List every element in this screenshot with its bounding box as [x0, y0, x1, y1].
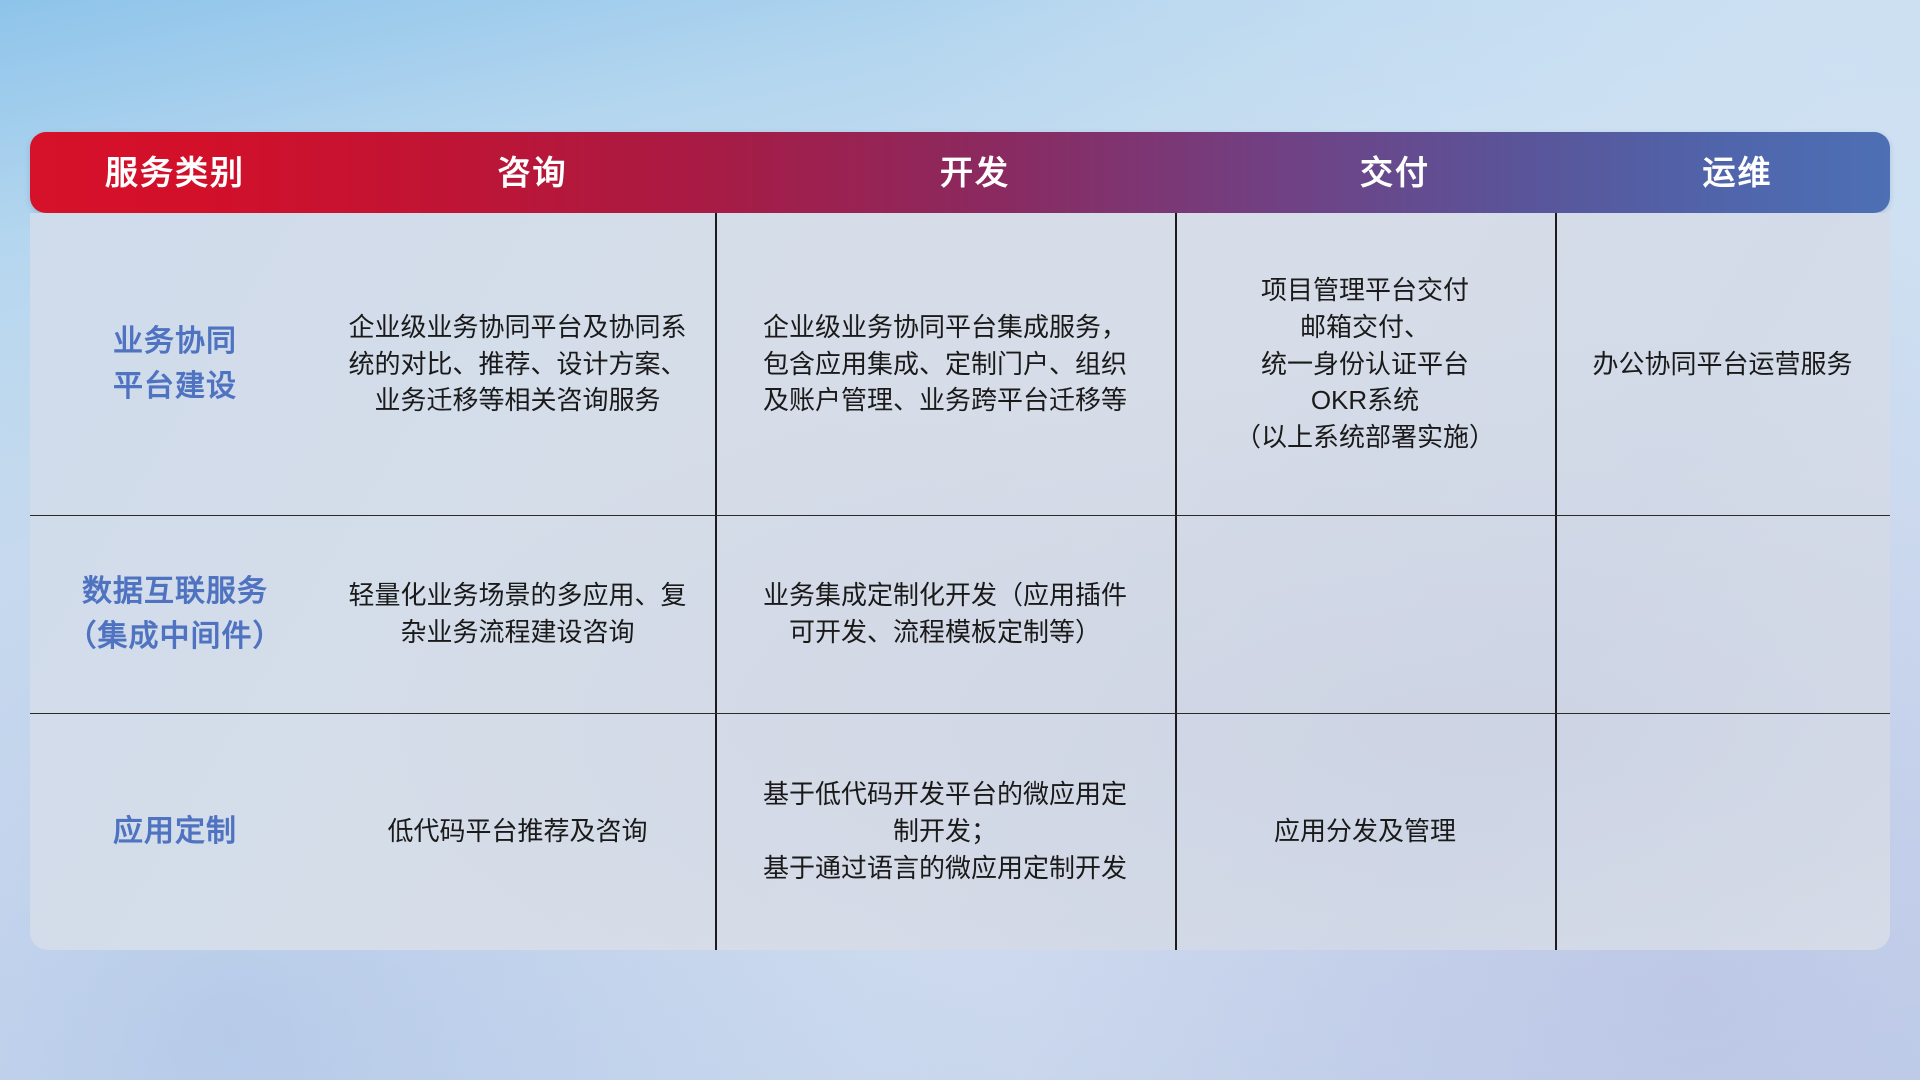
table-row: 数据互联服务 （集成中间件） 轻量化业务场景的多应用、复 杂业务流程建设咨询 业…	[30, 515, 1890, 713]
column-header-operations: 运维	[1585, 156, 1890, 189]
column-header-category: 服务类别	[30, 156, 320, 189]
cell-consulting: 企业级业务协同平台及协同系 统的对比、推荐、设计方案、 业务迁移等相关咨询服务	[320, 309, 715, 420]
cell-operations: 办公协同平台运营服务	[1555, 346, 1890, 383]
table-row: 应用定制 低代码平台推荐及咨询 基于低代码开发平台的微应用定 制开发； 基于通过…	[30, 713, 1890, 950]
cell-development: 企业级业务协同平台集成服务， 包含应用集成、定制门户、组织 及账户管理、业务跨平…	[715, 309, 1175, 420]
column-header-delivery: 交付	[1205, 156, 1585, 189]
row-divider-1	[30, 515, 1890, 516]
cell-category: 数据互联服务 （集成中间件）	[30, 569, 320, 659]
slide-canvas: 服务类别 咨询 开发 交付 运维 业务协同 平台建设 企业级业务协同平台及协同系…	[0, 0, 1920, 1080]
table-row: 业务协同 平台建设 企业级业务协同平台及协同系 统的对比、推荐、设计方案、 业务…	[30, 213, 1890, 515]
cell-delivery: 项目管理平台交付 邮箱交付、 统一身份认证平台 OKR系统 （以上系统部署实施）	[1175, 272, 1555, 457]
cell-consulting: 低代码平台推荐及咨询	[320, 813, 715, 850]
table-header-row: 服务类别 咨询 开发 交付 运维	[30, 132, 1890, 213]
cell-delivery: 应用分发及管理	[1175, 813, 1555, 850]
cell-consulting: 轻量化业务场景的多应用、复 杂业务流程建设咨询	[320, 577, 715, 651]
service-matrix-table: 服务类别 咨询 开发 交付 运维 业务协同 平台建设 企业级业务协同平台及协同系…	[30, 132, 1890, 950]
column-header-development: 开发	[745, 156, 1205, 189]
table-body: 业务协同 平台建设 企业级业务协同平台及协同系 统的对比、推荐、设计方案、 业务…	[30, 213, 1890, 950]
row-divider-2	[30, 713, 1890, 714]
column-header-consulting: 咨询	[320, 156, 745, 189]
cell-development: 基于低代码开发平台的微应用定 制开发； 基于通过语言的微应用定制开发	[715, 776, 1175, 887]
cell-development: 业务集成定制化开发（应用插件 可开发、流程模板定制等）	[715, 577, 1175, 651]
cell-category: 业务协同 平台建设	[30, 319, 320, 409]
cell-category: 应用定制	[30, 809, 320, 854]
